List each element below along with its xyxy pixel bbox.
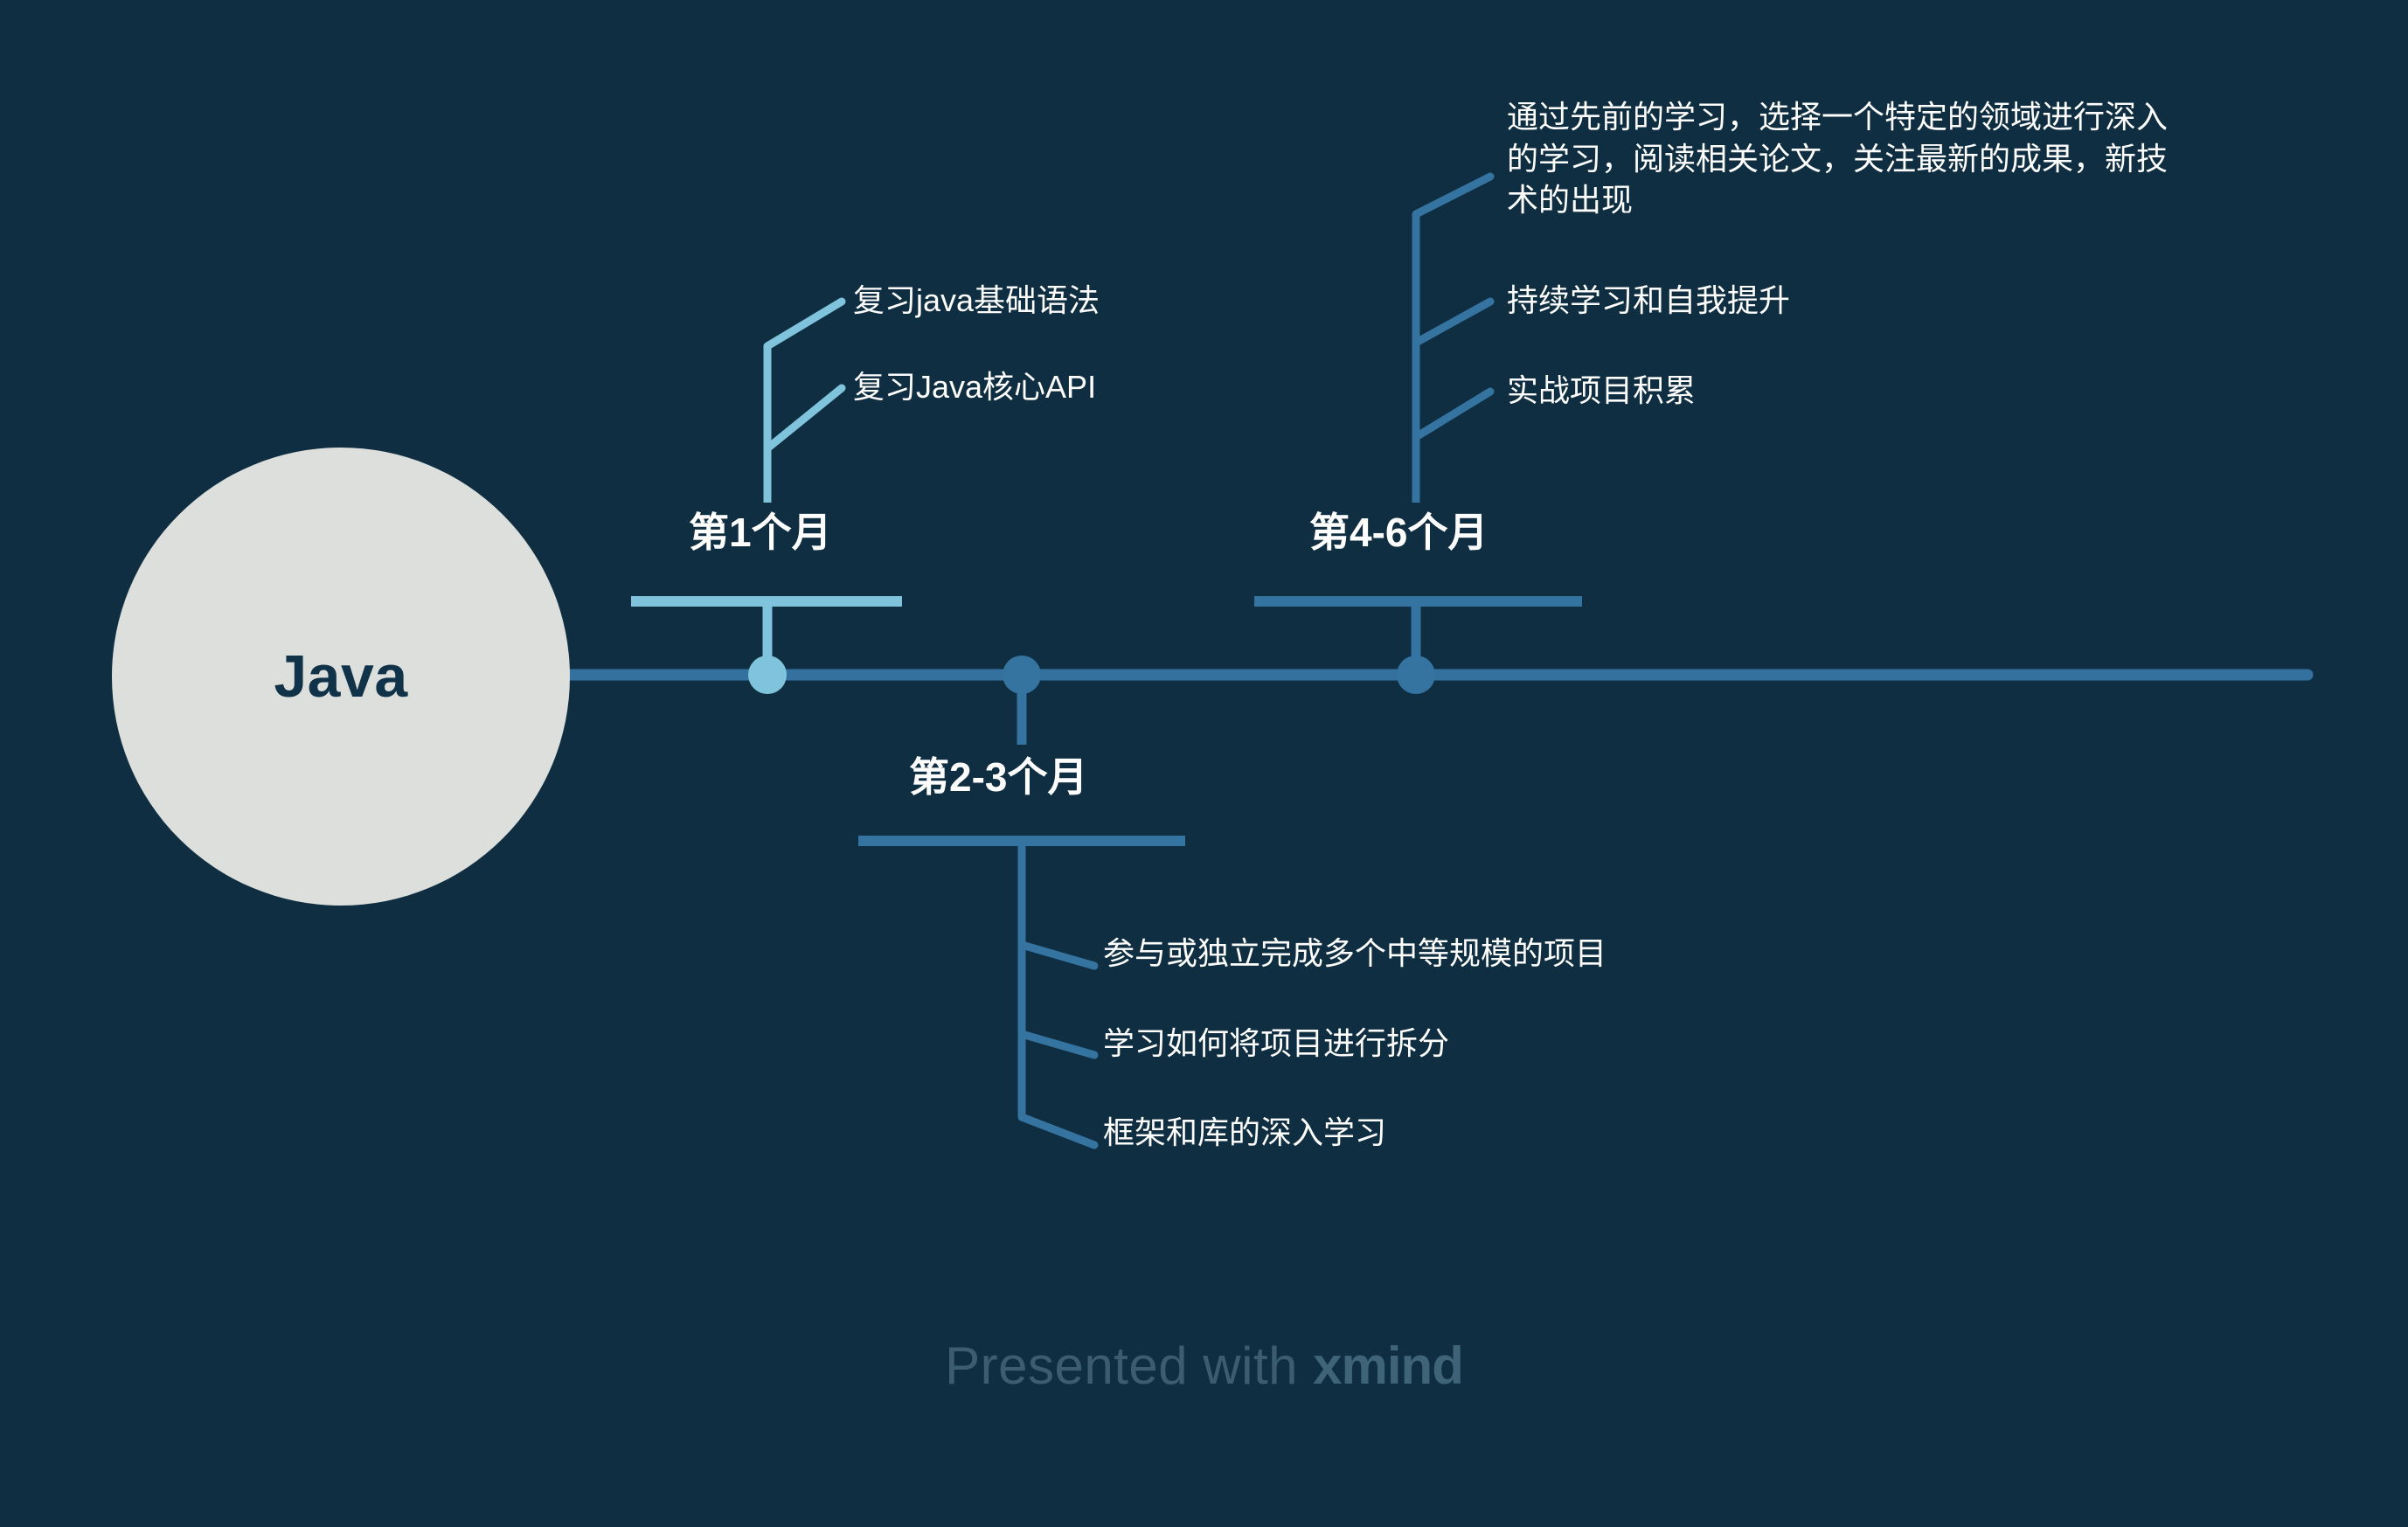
leaf-month-2-3-item-1[interactable]: 参与或独立完成多个中等规模的项目 [1103,933,1606,975]
branch-title-month-2-3[interactable]: 第2-3个月 [909,755,1087,800]
leaf-month-4-6-item-3[interactable]: 实战项目积累 [1507,370,1696,412]
timeline-node-month-4-6 [1397,656,1435,694]
timeline-node-month-1 [748,656,787,694]
leaf-month-1-item-1[interactable]: 复习java基础语法 [853,280,1100,322]
leaf-month-2-3-item-2[interactable]: 学习如何将项目进行拆分 [1103,1023,1449,1065]
mindmap-canvas: Java 第1个月 第2-3个月 第4-6个月 复习java基础语法 复习Jav… [0,0,2408,1527]
branch-3-leaf-1-connector [1416,177,1490,214]
leaf-month-1-item-2[interactable]: 复习Java核心API [853,366,1096,408]
branch-title-month-1[interactable]: 第1个月 [689,510,832,555]
root-label: Java [274,647,407,706]
branch-3-leaf-3-connector [1416,392,1490,437]
leaf-month-2-3-item-3[interactable]: 框架和库的深入学习 [1103,1112,1386,1154]
branch-3-leaf-2-connector [1416,302,1490,343]
root-node[interactable]: Java [112,448,570,906]
leaf-month-4-6-item-1[interactable]: 通过先前的学习，选择一个特定的领域进行深入 的学习，阅读相关论文，关注最新的成果… [1507,96,2311,221]
branch-title-month-4-6[interactable]: 第4-6个月 [1309,510,1488,555]
branch-2-leaf-2-connector [1022,1034,1094,1055]
watermark-prefix: Presented with [945,1336,1313,1395]
leaf-month-4-6-item-2[interactable]: 持续学习和自我提升 [1507,280,1790,322]
watermark: Presented with xmind [0,1336,2408,1396]
branch-1-leaf-2-connector [767,388,842,448]
branch-1-leaf-1-connector [767,302,842,346]
branch-2-leaf-1-connector [1022,945,1094,966]
timeline-node-month-2-3 [1003,656,1041,694]
branch-2-leaf-3-connector [1022,1117,1094,1145]
watermark-brand: xmind [1313,1336,1463,1395]
